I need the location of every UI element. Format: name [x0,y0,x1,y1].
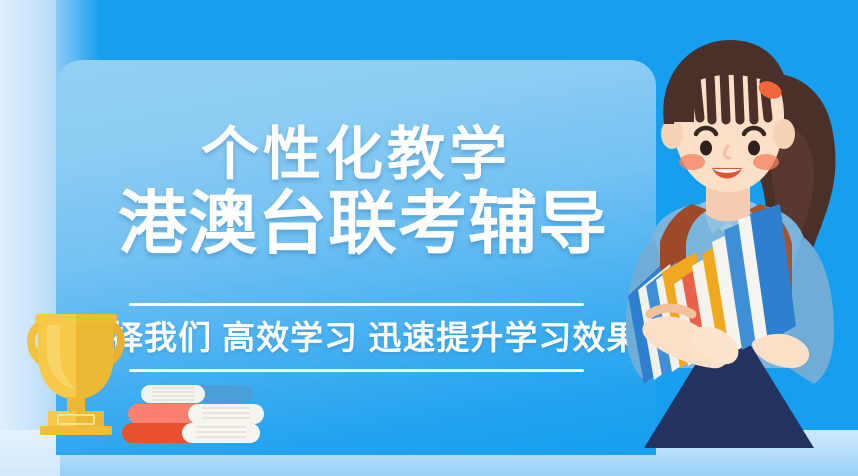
promo-banner: 个性化教学 港澳台联考辅导 选择我们 高效学习 迅速提升学习效果 [0,0,858,476]
book-salmon [128,404,264,424]
book-red [122,423,260,443]
trophy-icon [20,305,132,437]
eye-left [700,141,712,156]
subtitle-block: 选择我们 高效学习 迅速提升学习效果 [76,303,636,372]
divider-line-bottom [129,369,584,372]
divider-line-top [129,303,584,306]
eye-right [748,141,760,156]
book-blue [141,385,253,403]
cheek-left [679,154,705,170]
stacked-books-icon [122,383,282,445]
cheek-right [753,154,779,170]
female-student-illustration [600,28,858,448]
subtitle-text: 选择我们 高效学习 迅速提升学习效果 [76,315,636,361]
